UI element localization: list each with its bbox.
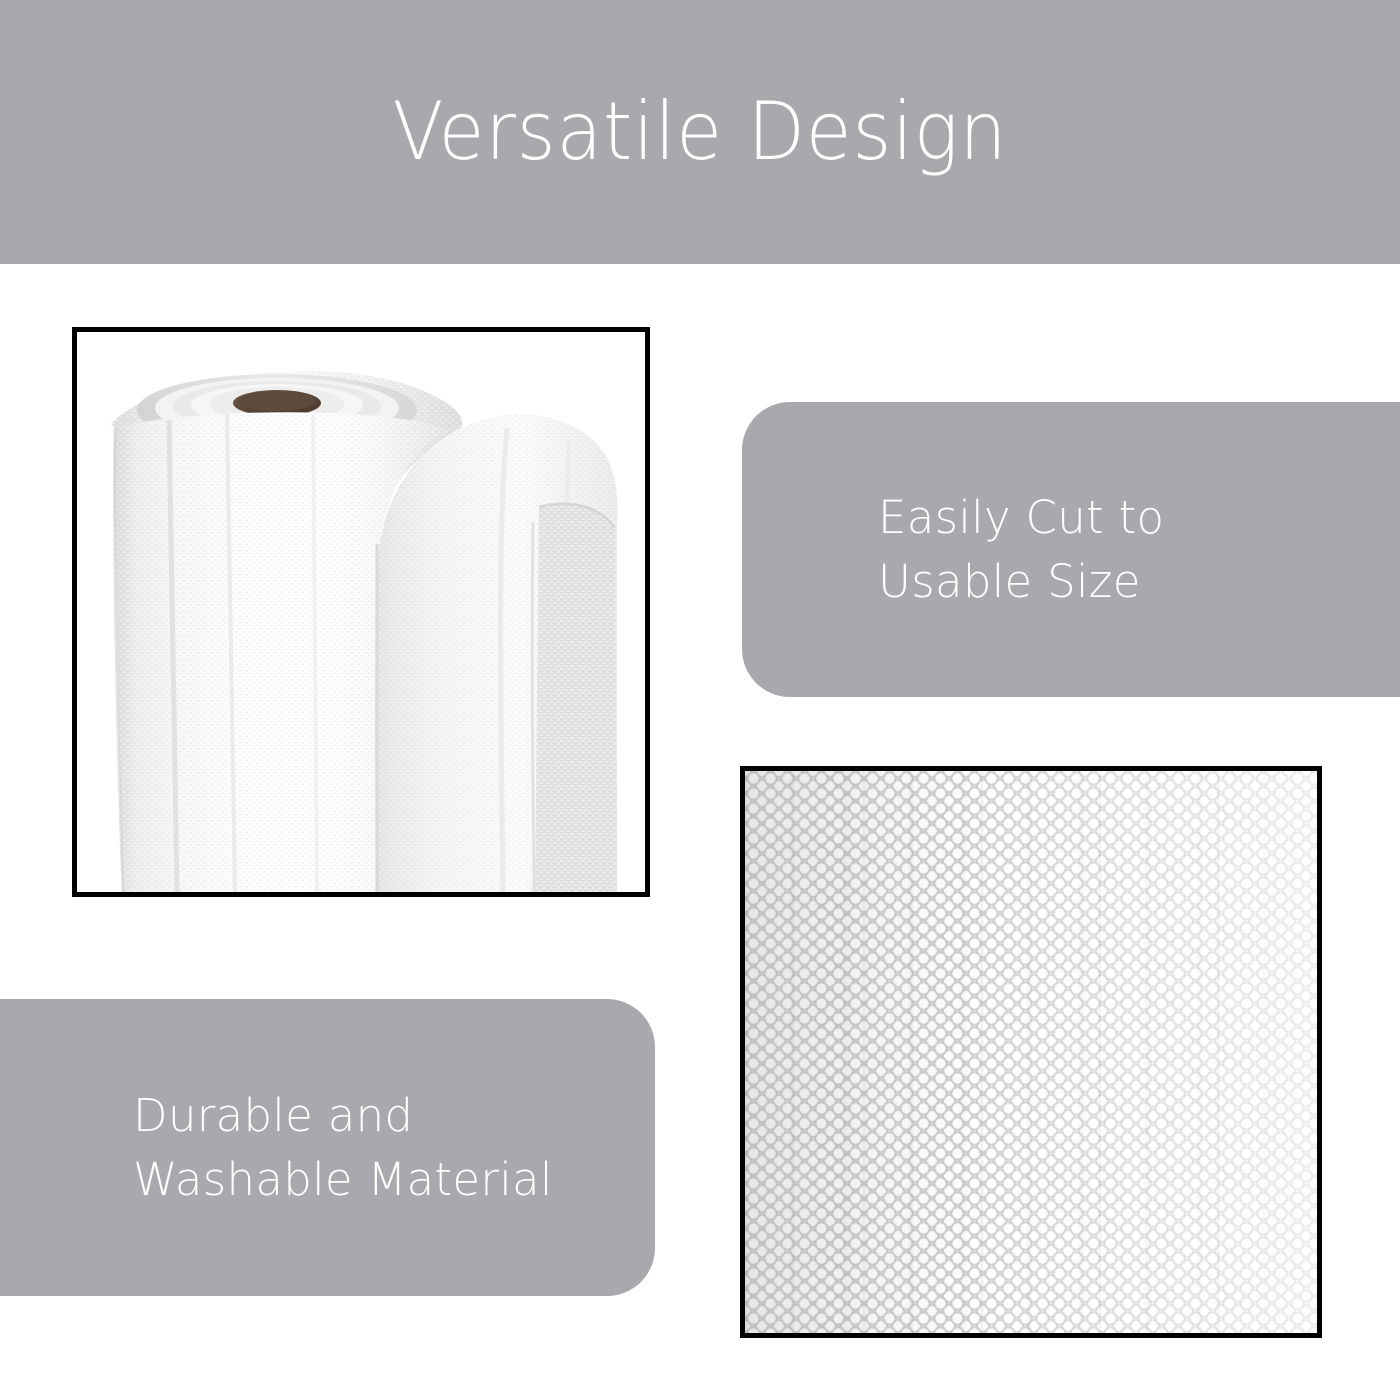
texture-lighting-overlay [745, 771, 1317, 1333]
material-texture-photo [745, 771, 1317, 1333]
infographic-page: Versatile Design [0, 0, 1400, 1400]
callout-easily-cut-text: Easily Cut to Usable Size [878, 486, 1164, 614]
product-roll-photo [77, 332, 645, 892]
callout-easily-cut: Easily Cut to Usable Size [742, 402, 1400, 697]
header-banner: Versatile Design [0, 0, 1400, 264]
material-texture-photo-frame [740, 766, 1322, 1338]
page-title: Versatile Design [49, 0, 1351, 264]
callout-durable-washable: Durable and Washable Material [0, 999, 655, 1296]
callout-durable-washable-text: Durable and Washable Material [133, 1084, 553, 1212]
product-roll-photo-frame [72, 327, 650, 897]
shelf-liner-roll-illustration [77, 332, 645, 892]
